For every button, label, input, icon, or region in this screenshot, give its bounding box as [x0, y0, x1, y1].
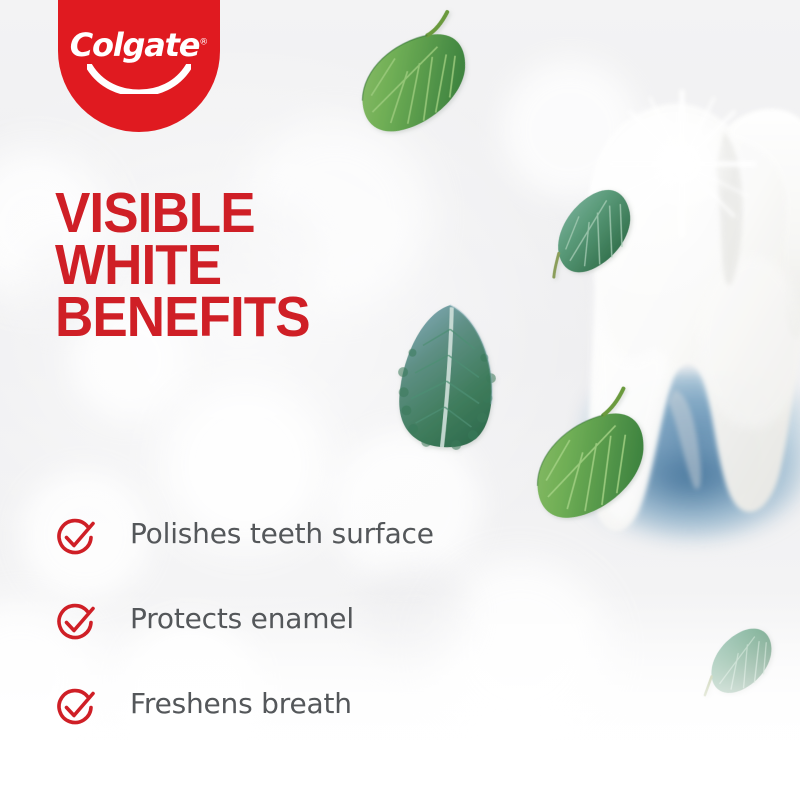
registered-mark: ®	[199, 37, 208, 47]
promo-banner: Colgate® VISIBLE WHITE BENEFITS Polishes…	[0, 0, 800, 800]
mint-leaf-top	[343, 11, 481, 140]
logo-wordmark: Colgate®	[58, 26, 220, 64]
benefit-label: Freshens breath	[130, 682, 352, 726]
list-item: Protects enamel	[54, 597, 614, 682]
page-title: VISIBLE WHITE BENEFITS	[55, 187, 446, 343]
list-item: Freshens breath	[54, 682, 614, 767]
benefits-list: Polishes teeth surface Protects enamel F…	[54, 512, 614, 767]
smile-swoosh-icon	[87, 64, 191, 94]
brand-name: Colgate	[70, 26, 200, 64]
colgate-logo[interactable]: Colgate®	[58, 0, 220, 132]
mint-leaf-bottom-right-small	[687, 622, 784, 705]
list-item: Polishes teeth surface	[54, 512, 614, 597]
check-circle-icon	[54, 516, 98, 560]
benefit-label: Polishes teeth surface	[130, 512, 434, 556]
benefit-label: Protects enamel	[130, 597, 354, 641]
check-circle-icon	[54, 686, 98, 730]
check-circle-icon	[54, 601, 98, 645]
